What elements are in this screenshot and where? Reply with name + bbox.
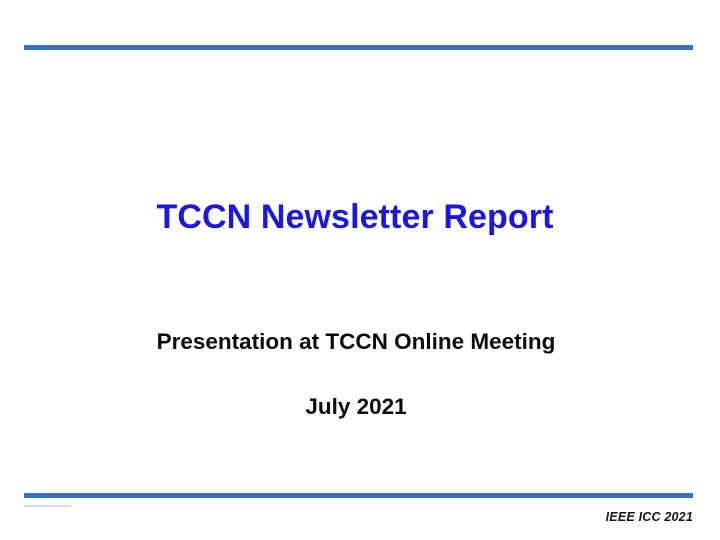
top-divider-rule <box>24 45 693 50</box>
slide-date: July 2021 <box>305 390 406 424</box>
presentation-slide: TCCN Newsletter Report Presentation at T… <box>0 0 720 540</box>
footer-conference-label: IEEE ICC 2021 <box>606 510 693 524</box>
slide-subtitle: Presentation at TCCN Online Meeting <box>157 325 556 359</box>
bottom-divider-rule <box>24 493 693 498</box>
page-title: TCCN Newsletter Report <box>156 196 553 238</box>
title-block: TCCN Newsletter Report <box>0 196 710 238</box>
date-block: July 2021 <box>0 390 712 424</box>
footer-accent-stub <box>24 505 71 507</box>
subtitle-block: Presentation at TCCN Online Meeting <box>0 325 712 359</box>
slide-footer: IEEE ICC 2021 <box>24 508 693 526</box>
